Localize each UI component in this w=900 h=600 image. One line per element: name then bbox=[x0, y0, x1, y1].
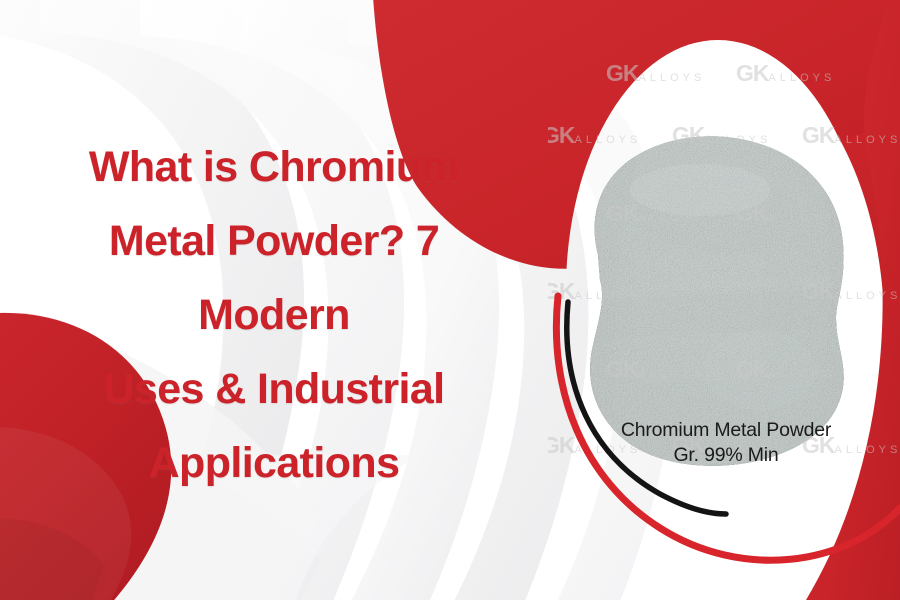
title-line-2: Metal Powder? 7 bbox=[14, 204, 534, 278]
page-title: What is Chromium Metal Powder? 7 Modern … bbox=[14, 130, 534, 500]
black-swoosh-arc bbox=[567, 302, 726, 514]
banner-canvas: GKALLOYS GKALLOYS GKALLOYS GKALLOYS GKAL… bbox=[0, 0, 900, 600]
title-line-3: Modern bbox=[14, 278, 534, 352]
title-line-4: Uses & Industrial bbox=[14, 352, 534, 426]
product-caption: Chromium Metal Powder Gr. 99% Min bbox=[588, 418, 864, 468]
title-line-1: What is Chromium bbox=[14, 130, 534, 204]
product-caption-line2: Gr. 99% Min bbox=[588, 443, 864, 468]
title-line-5: Applications bbox=[14, 426, 534, 500]
product-caption-line1: Chromium Metal Powder bbox=[588, 418, 864, 443]
